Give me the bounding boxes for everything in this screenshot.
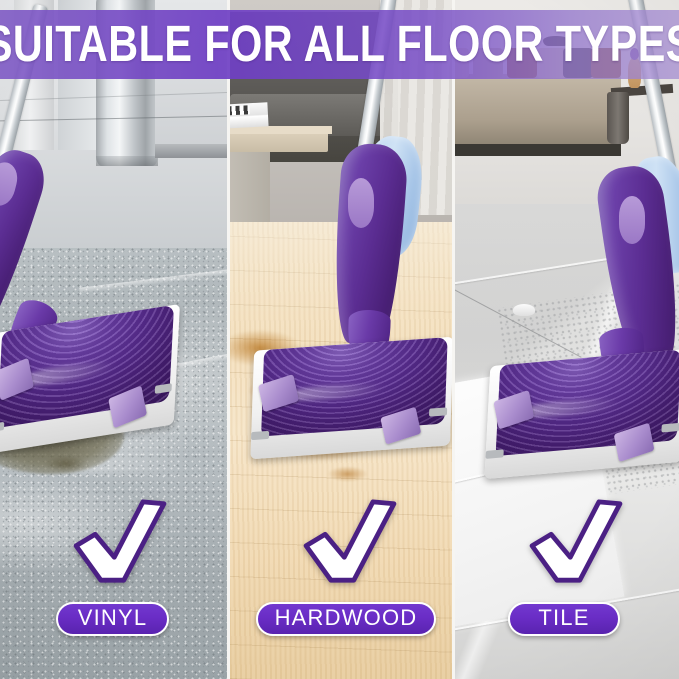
header-banner: SUITABLE FOR ALL FLOOR TYPES: [0, 10, 679, 79]
badge-label-tile: TILE: [536, 607, 591, 631]
mop-head: [484, 349, 679, 479]
mop-pad-tab-left: [251, 431, 269, 440]
page-title: SUITABLE FOR ALL FLOOR TYPES: [0, 18, 679, 72]
product-feature-image: VINYL HARDWOOD TILE SUITABLE FOR ALL FLO…: [0, 0, 679, 679]
badge-tile: TILE: [508, 602, 620, 636]
badge-label-hardwood: HARDWOOD: [273, 607, 420, 631]
mop-pad-tab-right: [662, 423, 679, 432]
check-mark-icon-vinyl: [72, 498, 168, 584]
mop-head: [250, 337, 452, 459]
mop-pad-tab-right: [429, 408, 447, 417]
badge-label-vinyl: VINYL: [76, 607, 150, 631]
check-mark-icon-hardwood: [302, 498, 398, 584]
mop-trigger-grip: [619, 196, 645, 244]
mop-pad-tab-left: [485, 449, 503, 458]
mop-trigger-grip: [348, 178, 374, 228]
check-mark-icon-tile: [528, 498, 624, 584]
badge-hardwood: HARDWOOD: [256, 602, 436, 636]
vinyl-spill-droplet: [46, 456, 86, 472]
badge-vinyl: VINYL: [56, 602, 169, 636]
spray-mop-vinyl: [0, 130, 192, 430]
